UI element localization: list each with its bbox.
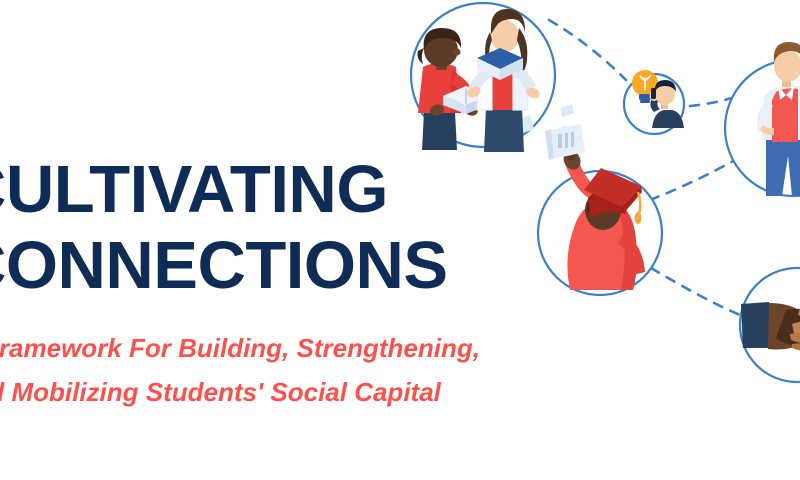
link-students-to-idea [549, 20, 626, 80]
title-line-2: CONNECTIONS [0, 228, 518, 304]
poster-subtitle: A Framework For Building, Strengthening,… [0, 326, 518, 414]
subtitle-line-1: A Framework For Building, Strengthening, [0, 326, 518, 370]
title-line-1: CULTIVATING [0, 152, 518, 228]
link-graduate-to-standing [650, 160, 735, 200]
node-standing-student [725, 42, 800, 196]
node-graduate [538, 124, 662, 295]
link-graduate-to-handshake [651, 268, 740, 315]
poster-text-block: CULTIVATING CONNECTIONS A Framework For … [0, 152, 518, 414]
node-idea-call [624, 70, 684, 134]
diploma-certificate [545, 124, 585, 160]
subtitle-line-2: and Mobilizing Students' Social Capital [0, 370, 518, 414]
page-title: CULTIVATING CONNECTIONS [0, 152, 518, 304]
poster-canvas: CULTIVATING CONNECTIONS A Framework For … [0, 0, 800, 480]
node-handshake [740, 268, 800, 382]
